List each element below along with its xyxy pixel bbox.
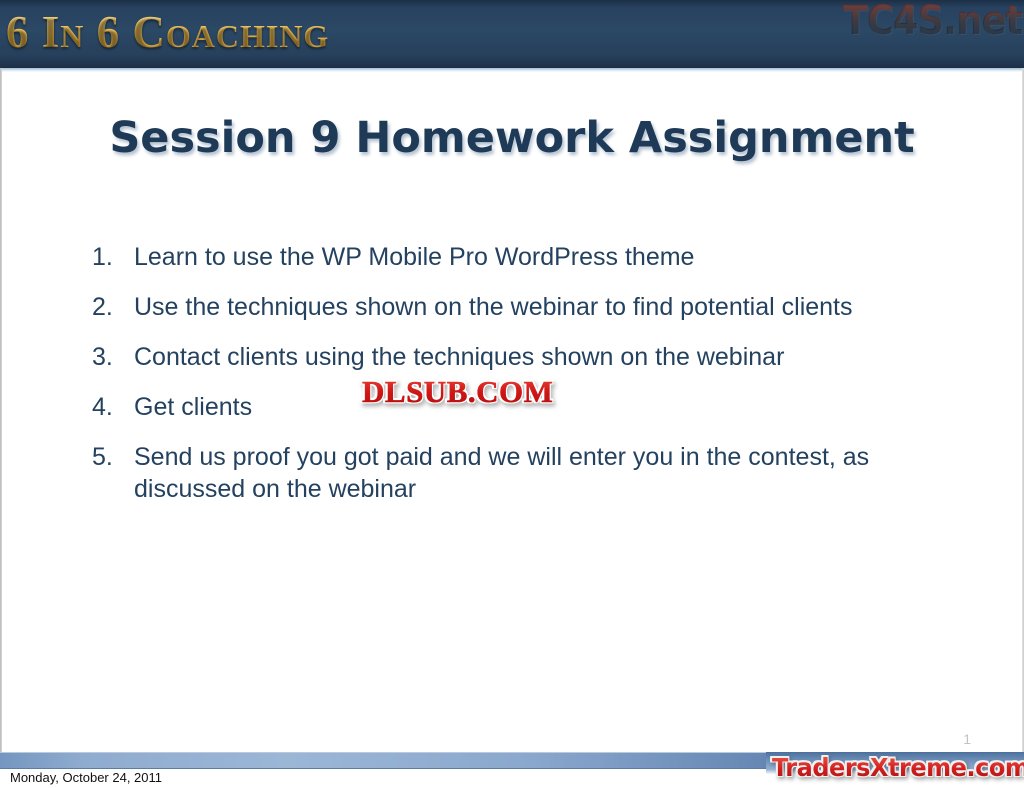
list-item: 5. Send us proof you got paid and we wil…	[92, 441, 964, 505]
slide-title: Session 9 Homework Assignment	[0, 113, 1024, 163]
slide-header-banner: 6 In 6 Coaching TC4S.net	[0, 0, 1024, 68]
list-item-number: 1.	[92, 241, 134, 273]
list-item-text: Send us proof you got paid and we will e…	[134, 441, 964, 505]
presentation-slide: 6 In 6 Coaching TC4S.net Session 9 Homew…	[0, 0, 1024, 788]
list-item-text: Learn to use the WP Mobile Pro WordPress…	[134, 241, 964, 273]
list-item: 1. Learn to use the WP Mobile Pro WordPr…	[92, 241, 964, 273]
page-number: 1	[963, 731, 971, 747]
list-item: 2. Use the techniques shown on the webin…	[92, 291, 964, 323]
list-item-number: 4.	[92, 391, 134, 423]
list-item-number: 5.	[92, 441, 134, 473]
slide-border-left	[0, 68, 2, 768]
list-item-number: 3.	[92, 341, 134, 373]
list-item: 3. Contact clients using the techniques …	[92, 341, 964, 373]
site-logo-tc4s: TC4S.net	[842, 0, 1022, 44]
header-underline-divider	[0, 68, 1024, 72]
dlsub-watermark: DLSUB.COM	[362, 374, 553, 410]
list-item-text: Use the techniques shown on the webinar …	[134, 291, 964, 323]
footer-logo-container: TradersXtreme.com	[766, 752, 1024, 788]
list-item-number: 2.	[92, 291, 134, 323]
list-item-text: Contact clients using the techniques sho…	[134, 341, 964, 373]
brand-title: 6 In 6 Coaching	[6, 6, 329, 58]
tradersxtreme-logo: TradersXtreme.com	[772, 753, 1024, 782]
footer-date: Monday, October 24, 2011	[10, 770, 162, 785]
